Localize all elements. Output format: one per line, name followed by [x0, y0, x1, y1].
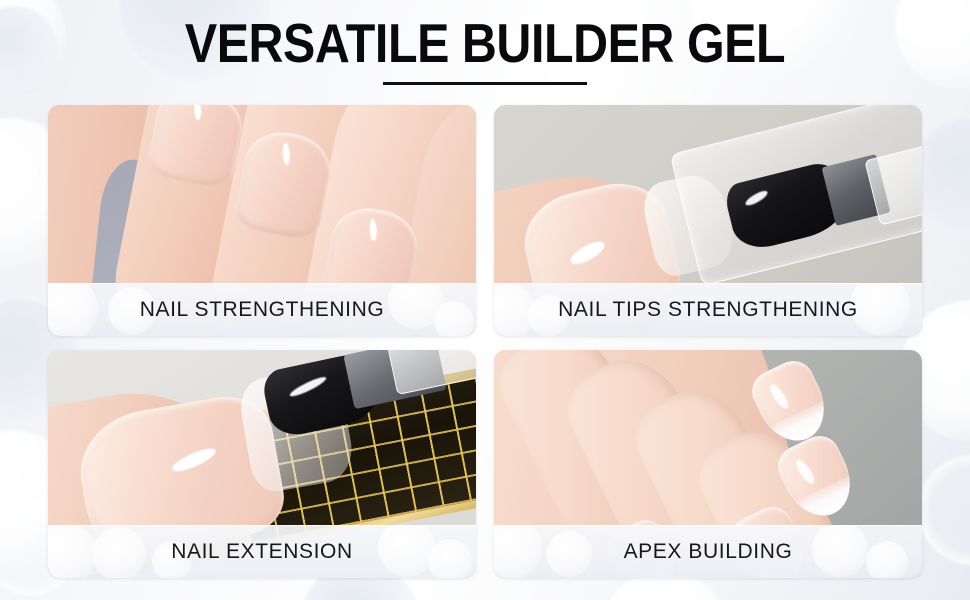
card-caption-label: APEX BUILDING: [624, 540, 793, 564]
title-underline: [383, 82, 587, 85]
card-caption-label: NAIL EXTENSION: [171, 540, 353, 564]
promo-banner: VERSATILE BUILDER GEL: [0, 0, 970, 600]
feature-card-nail-strengthening[interactable]: NAIL STRENGTHENING: [48, 105, 476, 336]
card-caption-bar: NAIL EXTENSION: [48, 525, 476, 578]
card-caption-bar: NAIL STRENGTHENING: [48, 283, 476, 336]
feature-card-nail-tips-strengthening[interactable]: NAIL TIPS STRENGTHENING: [494, 105, 922, 336]
card-caption-bar: NAIL TIPS STRENGTHENING: [494, 283, 922, 336]
feature-card-nail-extension[interactable]: NAIL EXTENSION: [48, 350, 476, 578]
card-caption-bar: APEX BUILDING: [494, 525, 922, 578]
feature-card-apex-building[interactable]: APEX BUILDING: [494, 350, 922, 578]
header: VERSATILE BUILDER GEL: [0, 14, 970, 85]
page-title: VERSATILE BUILDER GEL: [58, 14, 912, 72]
card-caption-label: NAIL STRENGTHENING: [140, 298, 385, 322]
feature-grid: NAIL STRENGTHENING NAIL TIPS STREN: [48, 105, 922, 578]
bokeh-circle: [918, 455, 970, 565]
card-caption-label: NAIL TIPS STRENGTHENING: [558, 298, 858, 322]
